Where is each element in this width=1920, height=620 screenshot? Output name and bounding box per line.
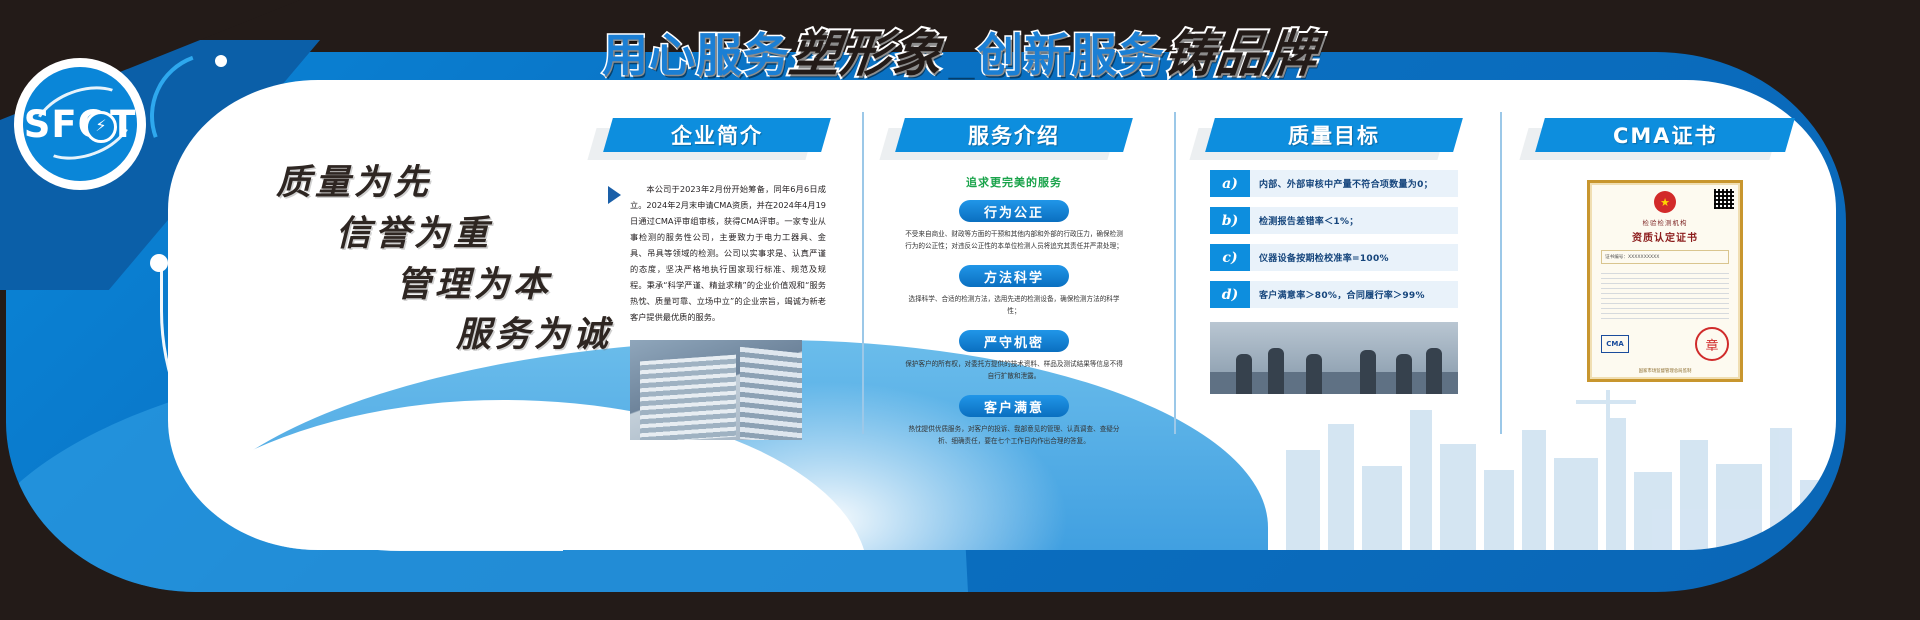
cma-title: CMA证书 [1613,120,1718,150]
cma-mark-icon: CMA [1601,335,1629,353]
lab-team-photo [1210,322,1458,394]
photo-person [1396,354,1412,394]
header-tag: CMA证书 [1535,118,1795,152]
headline-part1: 用心服务 [602,19,790,85]
panel-company-profile: 企业简介 本公司于2023年2月份开始筹备，同年6月6日成立。2024年2月末申… [608,118,826,440]
service-pill-4: 客户满意 [959,395,1069,417]
cma-header: CMA证书 [1540,118,1790,160]
cert-body-text [1601,269,1729,321]
photo-person [1306,354,1322,394]
headline-part2: 塑形象 [786,14,947,86]
qr-code-icon [1714,189,1734,209]
decorative-dot-left [150,254,168,272]
service-desc-3: 保护客户的所有权，对委托方提供的技术资料、样品及测试结果等信息不得自行扩散和泄露… [904,359,1124,382]
quality-row: d) 客户满意率＞80%，合同履行率＞99% [1210,281,1458,308]
panel-divider-3 [1500,112,1502,434]
cert-footer: 国家市场监督管理总局监制 [1590,368,1740,374]
cert-stamps: CMA 章 [1601,327,1729,361]
service-desc-4: 热忱提供优质服务，对客户的投诉、我部意见的管理、认真调查、查疑分析、细确责任，要… [904,424,1124,447]
cert-title-line: 资质认定证书 [1632,229,1698,244]
quality-key-c: c) [1210,244,1250,271]
photo-person [1236,354,1252,394]
header-tag: 企业简介 [603,118,831,152]
photo-person [1426,348,1442,394]
service-pill-3: 严守机密 [959,330,1069,352]
company-profile-header: 企业简介 [608,118,826,160]
headline-part3: 创新服务 [977,19,1165,85]
photo-person [1268,348,1284,394]
service-intro-header: 服务介绍 [900,118,1128,160]
national-emblem-icon: ★ [1654,191,1676,213]
quality-row: c) 仪器设备按期检校准率=100% [1210,244,1458,271]
service-desc-2: 选择科学、合适的检测方法，选用先进的检测设备，确保检测方法的科学性； [904,294,1124,317]
quality-value-c: 仪器设备按期检校准率=100% [1250,244,1458,271]
cma-certificate-image: ★ 检验检测机构 资质认定证书 证书编号：XXXXXXXXXX CMA 章 国家… [1587,180,1743,382]
service-intro-title: 服务介绍 [968,120,1060,150]
company-profile-body: 本公司于2023年2月份开始筹备，同年6月6日成立。2024年2月末申请CMA资… [608,182,826,326]
panel-quality-objectives: 质量目标 a) 内部、外部审核中产量不符合项数量为0； b) 检测报告差错率＜1… [1210,118,1458,394]
slogan-line-2: 信誉为重 [336,209,612,260]
quality-value-b: 检测报告差错率＜1%； [1250,207,1458,234]
cert-org-line: 检验检测机构 [1643,217,1688,227]
quality-objectives-header: 质量目标 [1210,118,1458,160]
triangle-bullet-icon [608,186,621,204]
culture-wall-stage: 用心服务塑形象_创新服务铸品牌 [0,0,1920,620]
red-seal-icon: 章 [1695,327,1729,361]
quality-key-b: b) [1210,207,1250,234]
slogan-line-1: 质量为先 [276,158,612,209]
header-tag: 质量目标 [1205,118,1463,152]
quality-objectives-title: 质量目标 [1288,120,1380,150]
cert-number: 证书编号：XXXXXXXXXX [1601,250,1729,264]
panel-divider-2 [1174,112,1176,434]
header-tag: 服务介绍 [895,118,1133,152]
panel-divider-1 [862,112,864,434]
quality-value-d: 客户满意率＞80%，合同履行率＞99% [1250,281,1458,308]
panel-service-intro: 服务介绍 追求更完美的服务 行为公正 不受来自商业、财政等方面的干预和其他内部和… [900,118,1128,460]
logo-text: SFQT [24,103,137,146]
headline-gap: _ [943,28,977,82]
quality-value-a: 内部、外部审核中产量不符合项数量为0； [1250,170,1458,197]
quality-row: b) 检测报告差错率＜1%； [1210,207,1458,234]
panel-cma-certificate: CMA证书 ★ 检验检测机构 资质认定证书 证书编号：XXXXXXXXXX CM… [1540,118,1790,382]
lightning-bolt-icon: ⚡ [85,111,117,143]
service-desc-1: 不受来自商业、财政等方面的干预和其他内部和外部的行政压力，确保检测行为的公正性；… [904,229,1124,252]
quality-row: a) 内部、外部审核中产量不符合项数量为0； [1210,170,1458,197]
city-skyline-icon [1276,370,1836,550]
quality-key-d: d) [1210,281,1250,308]
company-profile-text: 本公司于2023年2月份开始筹备，同年6月6日成立。2024年2月末申请CMA资… [630,182,826,326]
headline: 用心服务塑形象_创新服务铸品牌 [0,14,1920,86]
service-subtitle: 追求更完美的服务 [900,174,1128,190]
photo-person [1360,350,1376,394]
service-pill-1: 行为公正 [959,200,1069,222]
headline-part4: 铸品牌 [1161,14,1322,86]
quality-key-a: a) [1210,170,1250,197]
company-profile-title: 企业简介 [671,120,763,150]
company-building-photo [630,340,802,440]
service-pill-2: 方法科学 [959,265,1069,287]
